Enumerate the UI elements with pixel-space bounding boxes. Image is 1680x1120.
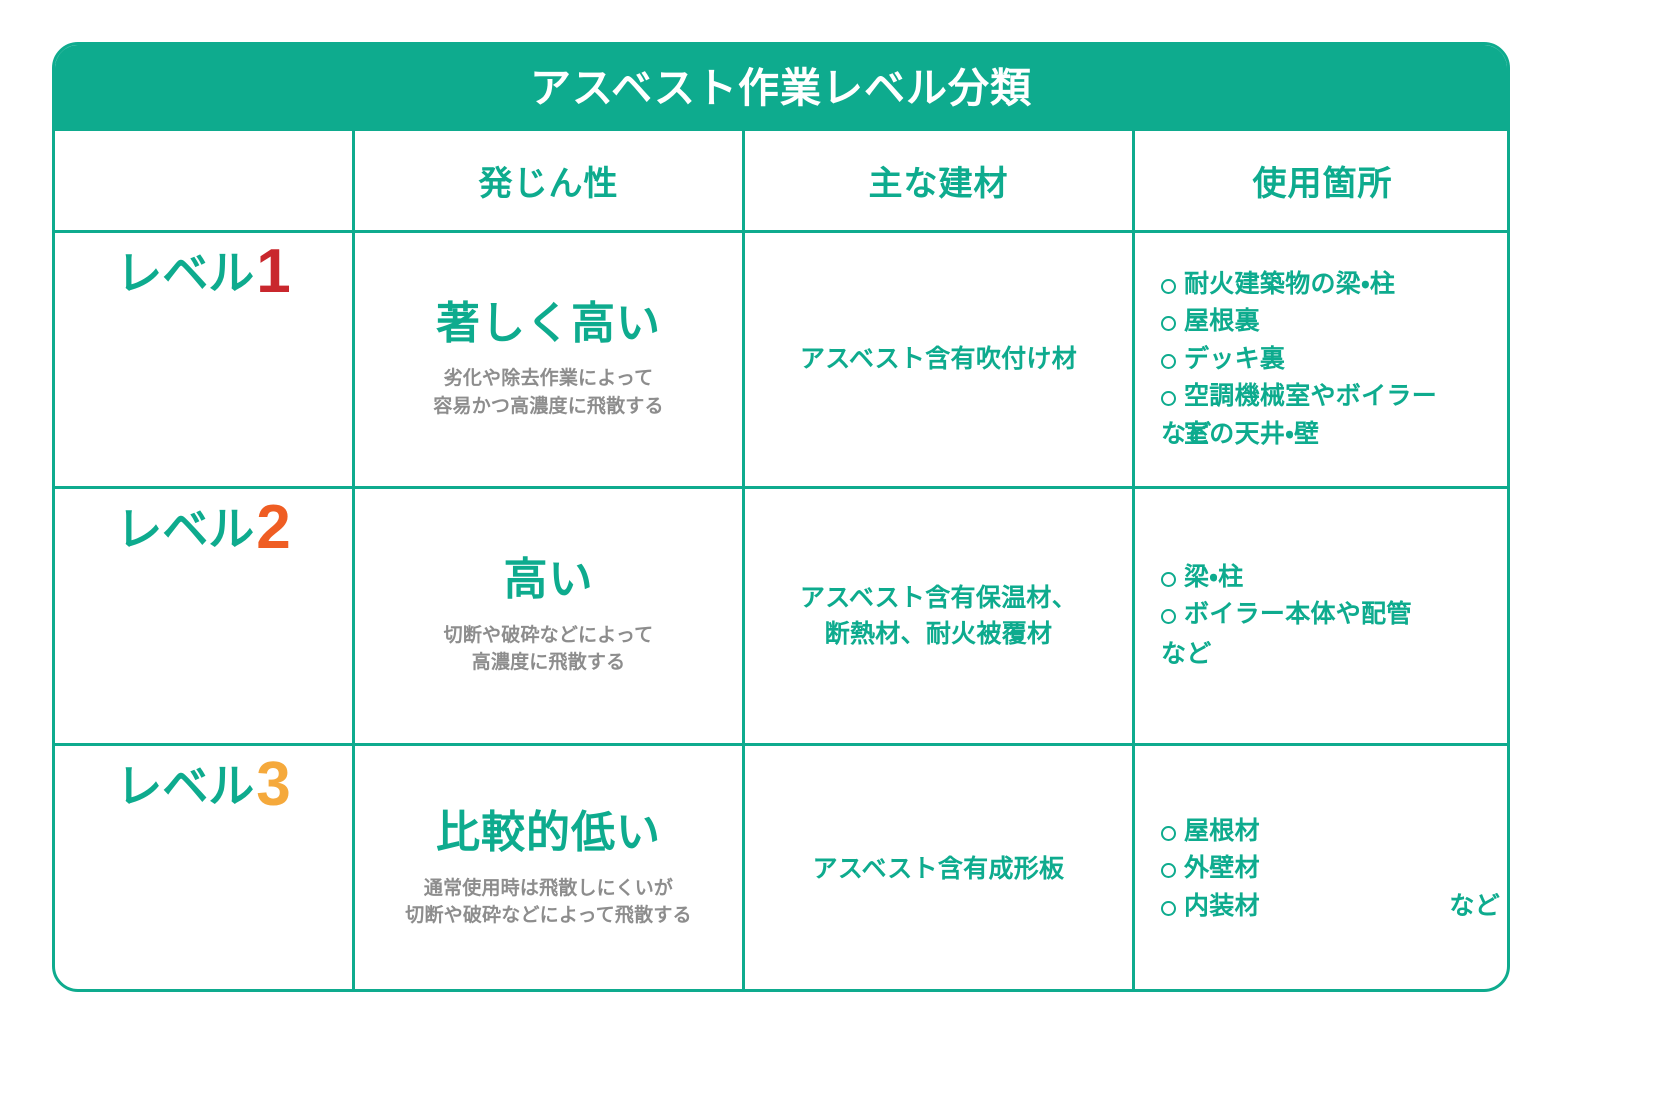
usage-etc-label: など [1449, 888, 1500, 926]
usage-label: 内装材 [1184, 888, 1389, 926]
dust-cell: 著しく高い 劣化や除去作業によって 容易かつ高濃度に飛散する [355, 233, 745, 489]
table-title-bar: アスベスト作業レベル分類 [55, 45, 1507, 131]
header-cell-usage: 使用箇所 [1135, 131, 1510, 233]
dust-main-label: 比較的低い [436, 808, 661, 859]
usage-list: 屋根材 外壁材 内装材 など [1161, 813, 1500, 926]
usage-label: 屋根材 [1184, 813, 1500, 851]
circle-bullet-icon [1161, 826, 1176, 841]
list-item: 屋根裏 [1161, 303, 1500, 341]
dust-main-label: 高い [504, 555, 594, 606]
circle-bullet-icon [1161, 863, 1176, 878]
table-grid: 発じん性 主な建材 使用箇所 レベル 1 著しく高い 劣化や除去作業によって 容… [55, 131, 1507, 992]
dust-main-label: 著しく高い [436, 299, 661, 350]
usage-label: 空調機械室やボイラー [1184, 378, 1500, 416]
dust-cell: 高い 切断や破砕などによって 高濃度に飛散する [355, 489, 745, 746]
material-line: アスベスト含有保温材、 [800, 580, 1077, 616]
circle-bullet-icon [1161, 391, 1176, 406]
dust-note-line: 劣化や除去作業によって [433, 365, 663, 393]
table-row: レベル 2 [55, 489, 355, 746]
dust-note: 通常使用時は飛散しにくいが 切断や破砕などによって飛散する [405, 875, 691, 930]
list-item: 外壁材 [1161, 850, 1500, 888]
usage-etc-label: など [1161, 636, 1238, 674]
list-item: 内装材 など [1161, 888, 1500, 926]
dust-note-line: 切断や破砕などによって [444, 622, 654, 650]
header-label-usage: 使用箇所 [1253, 156, 1393, 205]
dust-note: 切断や破砕などによって 高濃度に飛散する [444, 622, 654, 677]
circle-bullet-icon [1161, 572, 1176, 587]
usage-label: 耐火建築物の梁・柱 [1184, 266, 1500, 304]
level-word: レベル [116, 750, 254, 816]
dust-note-line: 切断や破砕などによって飛散する [405, 902, 691, 930]
page-title: アスベスト作業レベル分類 [530, 68, 1032, 109]
circle-bullet-icon [1161, 609, 1176, 624]
page-root: アスベスト作業レベル分類 発じん性 主な建材 使用箇所 レベル 1 著しく高い [0, 0, 1680, 1120]
material-cell: アスベスト含有吹付け材 [745, 233, 1135, 489]
material-cell: アスベスト含有保温材、 断熱材、耐火被覆材 [745, 489, 1135, 746]
list-item: 梁・柱 [1161, 559, 1500, 597]
list-item: 屋根材 [1161, 813, 1500, 851]
usage-etc-label: など [1161, 416, 1266, 454]
usage-label: デッキ裏 [1184, 341, 1500, 379]
header-label-dust: 発じん性 [479, 156, 619, 205]
level-number: 1 [256, 241, 290, 303]
list-item: ボイラー本体や配管 [1161, 596, 1500, 634]
list-item: 耐火建築物の梁・柱 [1161, 266, 1500, 304]
header-cell-dust: 発じん性 [355, 131, 745, 233]
header-cell-material: 主な建材 [745, 131, 1135, 233]
material-cell: アスベスト含有成形板 [745, 746, 1135, 992]
circle-bullet-icon [1161, 279, 1176, 294]
circle-bullet-icon [1161, 354, 1176, 369]
level-word: レベル [116, 237, 254, 303]
dust-note-line: 高濃度に飛散する [444, 649, 654, 677]
usage-label: 屋根裏 [1184, 303, 1500, 341]
header-label-material: 主な建材 [869, 156, 1009, 205]
dust-note-line: 通常使用時は飛散しにくいが [405, 875, 691, 903]
header-cell-level [55, 131, 355, 233]
material-line: アスベスト含有吹付け材 [800, 341, 1077, 377]
table-row: レベル 1 [55, 233, 355, 489]
list-item: 空調機械室やボイラー [1161, 378, 1500, 416]
level-number: 2 [256, 497, 290, 559]
circle-bullet-icon [1161, 316, 1176, 331]
level-word: レベル [116, 493, 254, 559]
list-item: デッキ裏 [1161, 341, 1500, 379]
usage-label: 外壁材 [1184, 850, 1500, 888]
dust-note: 劣化や除去作業によって 容易かつ高濃度に飛散する [433, 365, 663, 420]
usage-cell: 梁・柱 ボイラー本体や配管 など [1135, 489, 1510, 746]
circle-bullet-icon [1161, 901, 1176, 916]
usage-cell: 耐火建築物の梁・柱 屋根裏 デッキ裏 空調機械室やボイラー [1135, 233, 1510, 489]
usage-label: 梁・柱 [1184, 559, 1500, 597]
dust-note-line: 容易かつ高濃度に飛散する [433, 393, 663, 421]
material-line: アスベスト含有成形板 [813, 851, 1065, 887]
table-row: レベル 3 [55, 746, 355, 992]
material-line: 断熱材、耐火被覆材 [825, 616, 1053, 652]
level-number: 3 [256, 754, 290, 816]
usage-cell: 屋根材 外壁材 内装材 など [1135, 746, 1510, 992]
usage-label: ボイラー本体や配管 [1184, 596, 1500, 634]
dust-cell: 比較的低い 通常使用時は飛散しにくいが 切断や破砕などによって飛散する [355, 746, 745, 992]
usage-list: 梁・柱 ボイラー本体や配管 [1161, 559, 1500, 634]
asbestos-level-table: アスベスト作業レベル分類 発じん性 主な建材 使用箇所 レベル 1 著しく高い [52, 42, 1510, 992]
